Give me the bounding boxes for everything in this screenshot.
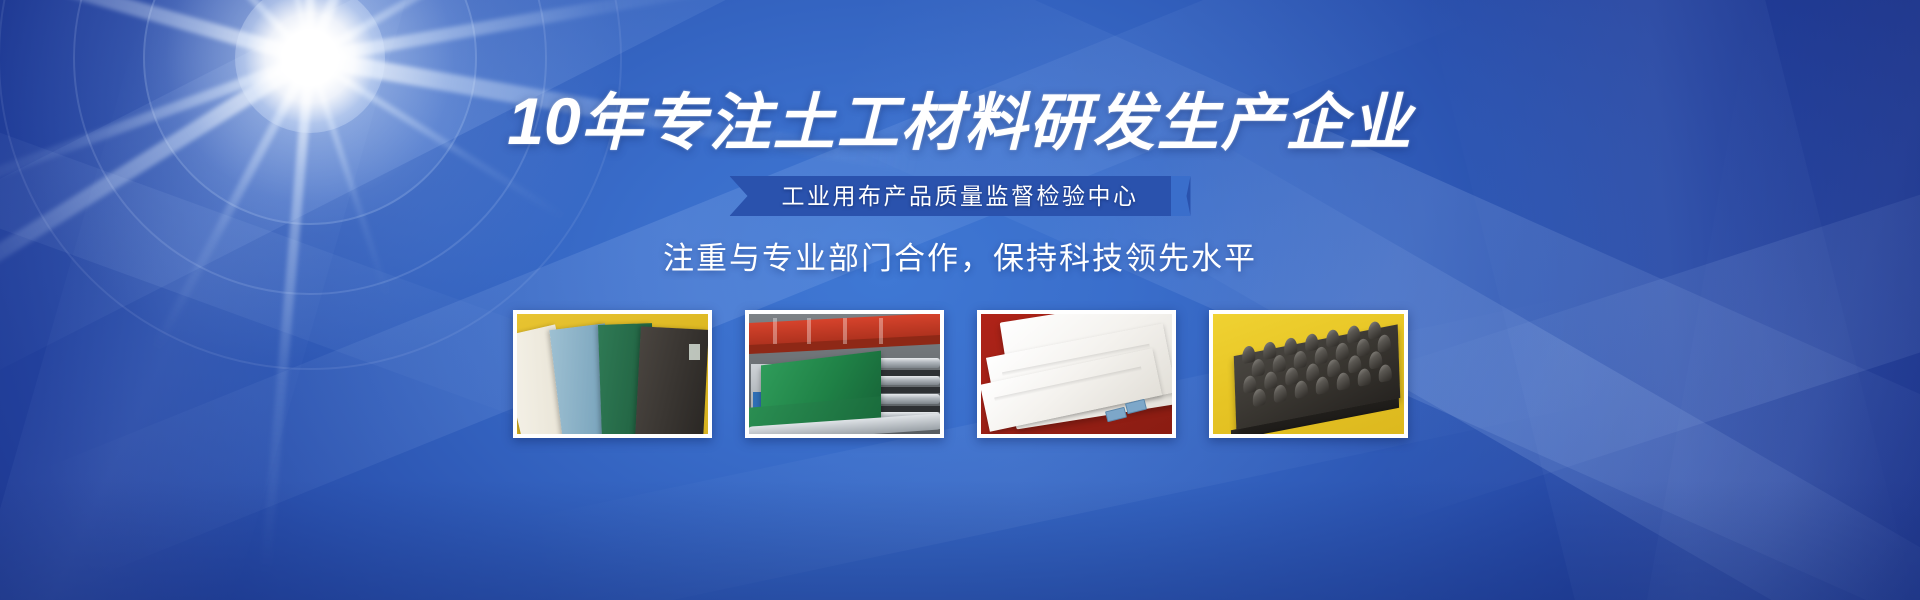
- photo-image: [749, 314, 940, 434]
- sheet-label-tag: [689, 344, 700, 360]
- gantry-bar: [879, 318, 883, 344]
- gantry-bar: [843, 318, 847, 344]
- badge-row: 工业用布产品质量监督检验中心: [0, 176, 1920, 216]
- photo-image: [1213, 314, 1404, 434]
- sheet-black: [635, 326, 708, 434]
- photo-image: [517, 314, 708, 434]
- page-title: 10年专注土工材料研发生产企业: [0, 82, 1920, 163]
- hero-banner: 10年专注土工材料研发生产企业 工业用布产品质量监督检验中心 注重与专业部门合作…: [0, 0, 1920, 600]
- bottom-gradient-overlay: [0, 480, 1920, 600]
- badge-label: 工业用布产品质量监督检验中心: [782, 183, 1139, 209]
- product-photo-geomembrane-sheets[interactable]: [513, 310, 712, 438]
- gantry-bar: [807, 318, 811, 344]
- gantry-bar: [773, 318, 777, 344]
- product-photo-strip: [0, 310, 1920, 438]
- banner-subtitle: 注重与专业部门合作，保持科技领先水平: [0, 237, 1920, 281]
- product-photo-production-line[interactable]: [745, 310, 944, 438]
- status-badge: 工业用布产品质量监督检验中心: [730, 176, 1191, 216]
- headline-rest-text: 年专注土工材料研发生产企业: [581, 89, 1413, 158]
- product-photo-drainage-board[interactable]: [1209, 310, 1408, 438]
- headline-years-number: 10: [507, 84, 580, 158]
- photo-image: [981, 314, 1172, 434]
- product-photo-nonwoven-geotextile[interactable]: [977, 310, 1176, 438]
